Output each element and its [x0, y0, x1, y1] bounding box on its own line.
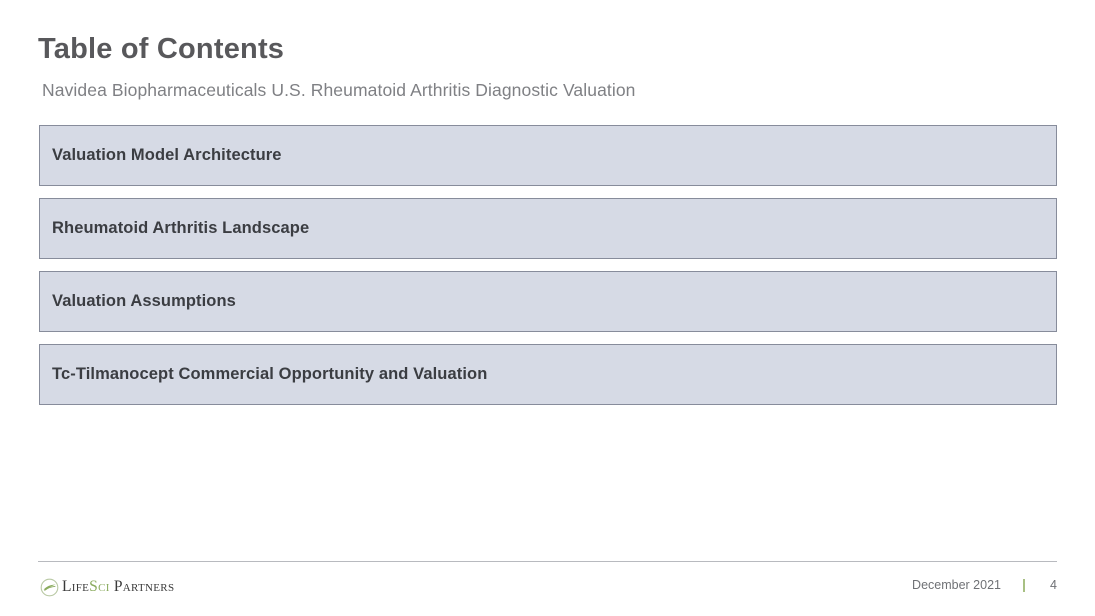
- logo-word-life: Life: [62, 578, 89, 595]
- toc-item-label: Valuation Assumptions: [52, 292, 236, 311]
- logo-wordmark: LifeSci Partners: [62, 578, 174, 596]
- lifesci-partners-logo: LifeSci Partners: [40, 576, 174, 598]
- toc-item-rheumatoid-arthritis-landscape[interactable]: Rheumatoid Arthritis Landscape: [39, 198, 1057, 259]
- page-subtitle: Navidea Biopharmaceuticals U.S. Rheumato…: [42, 80, 636, 101]
- footer-date: December 2021: [912, 578, 1001, 592]
- footer-divider: [38, 561, 1057, 562]
- footer-meta: December 2021 4: [912, 578, 1057, 592]
- logo-word-partners: Partners: [110, 578, 175, 595]
- toc-item-label: Tc-Tilmanocept Commercial Opportunity an…: [52, 365, 487, 384]
- toc-item-valuation-model-architecture[interactable]: Valuation Model Architecture: [39, 125, 1057, 186]
- leaf-circle-icon: [40, 578, 59, 597]
- toc-item-valuation-assumptions[interactable]: Valuation Assumptions: [39, 271, 1057, 332]
- footer-separator-bar: [1023, 579, 1025, 592]
- page-title: Table of Contents: [38, 33, 284, 66]
- slide: Table of Contents Navidea Biopharmaceuti…: [0, 0, 1095, 616]
- toc-item-label: Valuation Model Architecture: [52, 146, 282, 165]
- logo-word-sci: Sci: [89, 578, 110, 595]
- toc-list: Valuation Model Architecture Rheumatoid …: [39, 125, 1057, 417]
- toc-item-label: Rheumatoid Arthritis Landscape: [52, 219, 309, 238]
- toc-item-tc-tilmanocept-commercial-opportunity[interactable]: Tc-Tilmanocept Commercial Opportunity an…: [39, 344, 1057, 405]
- footer: LifeSci Partners December 2021 4: [38, 572, 1057, 606]
- page-number: 4: [1047, 578, 1057, 592]
